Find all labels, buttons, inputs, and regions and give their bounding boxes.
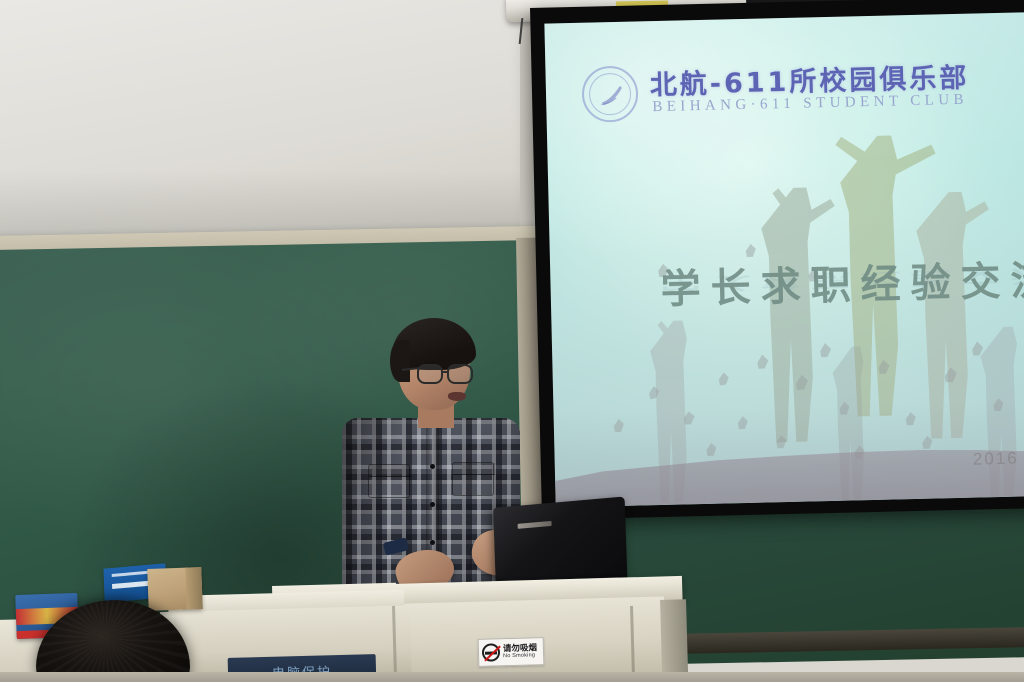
glasses-bridge	[442, 371, 449, 373]
pocket-flap	[453, 463, 495, 475]
pocket-flap	[369, 465, 411, 477]
no-smoking-sign: 请勿吸烟 No Smoking	[478, 637, 545, 667]
cardboard-flap	[185, 567, 202, 610]
cardboard-box	[147, 567, 202, 611]
card-line	[112, 571, 152, 577]
mouth	[448, 392, 466, 401]
shirt-button	[430, 502, 435, 507]
screen-glare	[544, 12, 838, 266]
shirt-button	[430, 540, 435, 545]
shirt-pocket-left	[368, 464, 410, 498]
shirt-button	[430, 464, 435, 469]
hair-side	[390, 340, 410, 382]
floor-strip	[0, 672, 1024, 682]
shirt-pocket-right	[452, 462, 494, 496]
projected-slide: 北航-611所校园俱乐部 BEIHANG·611 STUDENT CLUB 学长…	[544, 12, 1024, 507]
projection-screen: 北航-611所校园俱乐部 BEIHANG·611 STUDENT CLUB 学长…	[530, 0, 1024, 520]
no-smoking-text: 请勿吸烟 No Smoking	[503, 644, 537, 660]
year-stamp: 2016	[973, 449, 1019, 470]
glasses-lens-left	[417, 364, 443, 384]
classroom-photo: 北航-611所校园俱乐部 BEIHANG·611 STUDENT CLUB 学长…	[0, 0, 1024, 682]
glasses-lens-right	[447, 364, 473, 384]
laptop-brand-logo-icon	[518, 521, 552, 529]
podium-right-side	[660, 599, 688, 682]
event-title-cn: 学长求职经验交流会	[660, 246, 1024, 315]
emblem-wing-icon	[598, 82, 627, 111]
no-smoking-en: No Smoking	[503, 653, 537, 660]
no-smoking-icon	[482, 643, 500, 661]
